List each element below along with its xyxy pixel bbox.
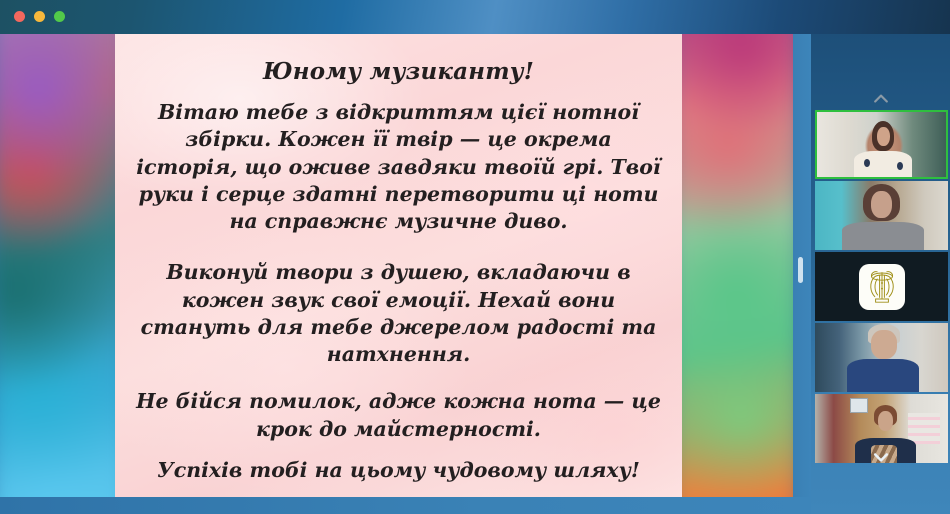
scroll-up-button[interactable] [811,88,950,110]
avatar-body [847,359,919,392]
participant-tile-3[interactable] [815,252,948,321]
participant-video-1 [817,112,946,177]
avatar-body [842,222,924,250]
participant-video-3 [815,252,948,321]
slide-title: Юному музиканту! [263,58,534,85]
presentation-slide: Юному музиканту! Вітаю тебе з відкриттям… [115,34,682,497]
participant-video-2 [815,181,948,250]
avatar-face [877,127,890,147]
avatar [859,264,905,310]
participant-tiles [815,110,950,465]
minimize-window-button[interactable] [34,11,45,22]
background-poster [850,398,869,413]
meeting-body: Юному музиканту! Вітаю тебе з відкриттям… [0,34,950,514]
avatar-face [871,330,898,359]
backdrop-right-blur [668,34,793,497]
background-notes [908,413,940,443]
chevron-down-icon [871,447,891,467]
slide-paragraph-4: Успіхів тобі на цьому чудовому шляху! [133,457,664,484]
slide-paragraph-3: Не бійся помилок, адже кожна нота — це к… [133,388,664,443]
scroll-down-button[interactable] [811,446,950,468]
maximize-window-button[interactable] [54,11,65,22]
participant-tile-4[interactable] [815,323,948,392]
traffic-lights [14,11,65,22]
lyre-emblem-icon [862,267,902,307]
avatar-body [854,151,912,177]
close-window-button[interactable] [14,11,25,22]
participant-tile-1[interactable] [815,110,948,179]
meeting-window: Юному музиканту! Вітаю тебе з відкриттям… [0,0,950,514]
chevron-up-icon [871,89,891,109]
backdrop-left-blur [0,34,131,497]
avatar-face [878,411,894,432]
slide-paragraph-2: Виконуй твори з душею, вкладаючи в кожен… [133,259,664,368]
window-titlebar [0,0,950,34]
slide-paragraph-1: Вітаю тебе з відкриттям цієї нотної збір… [133,99,664,235]
participant-tile-2[interactable] [815,181,948,250]
avatar-face [871,191,892,219]
drag-handle-icon[interactable] [798,257,803,283]
bottom-bar [0,497,811,514]
shared-screen-stage[interactable]: Юному музиканту! Вітаю тебе з відкриттям… [0,34,793,497]
participant-video-4 [815,323,948,392]
participant-filmstrip [811,34,950,514]
